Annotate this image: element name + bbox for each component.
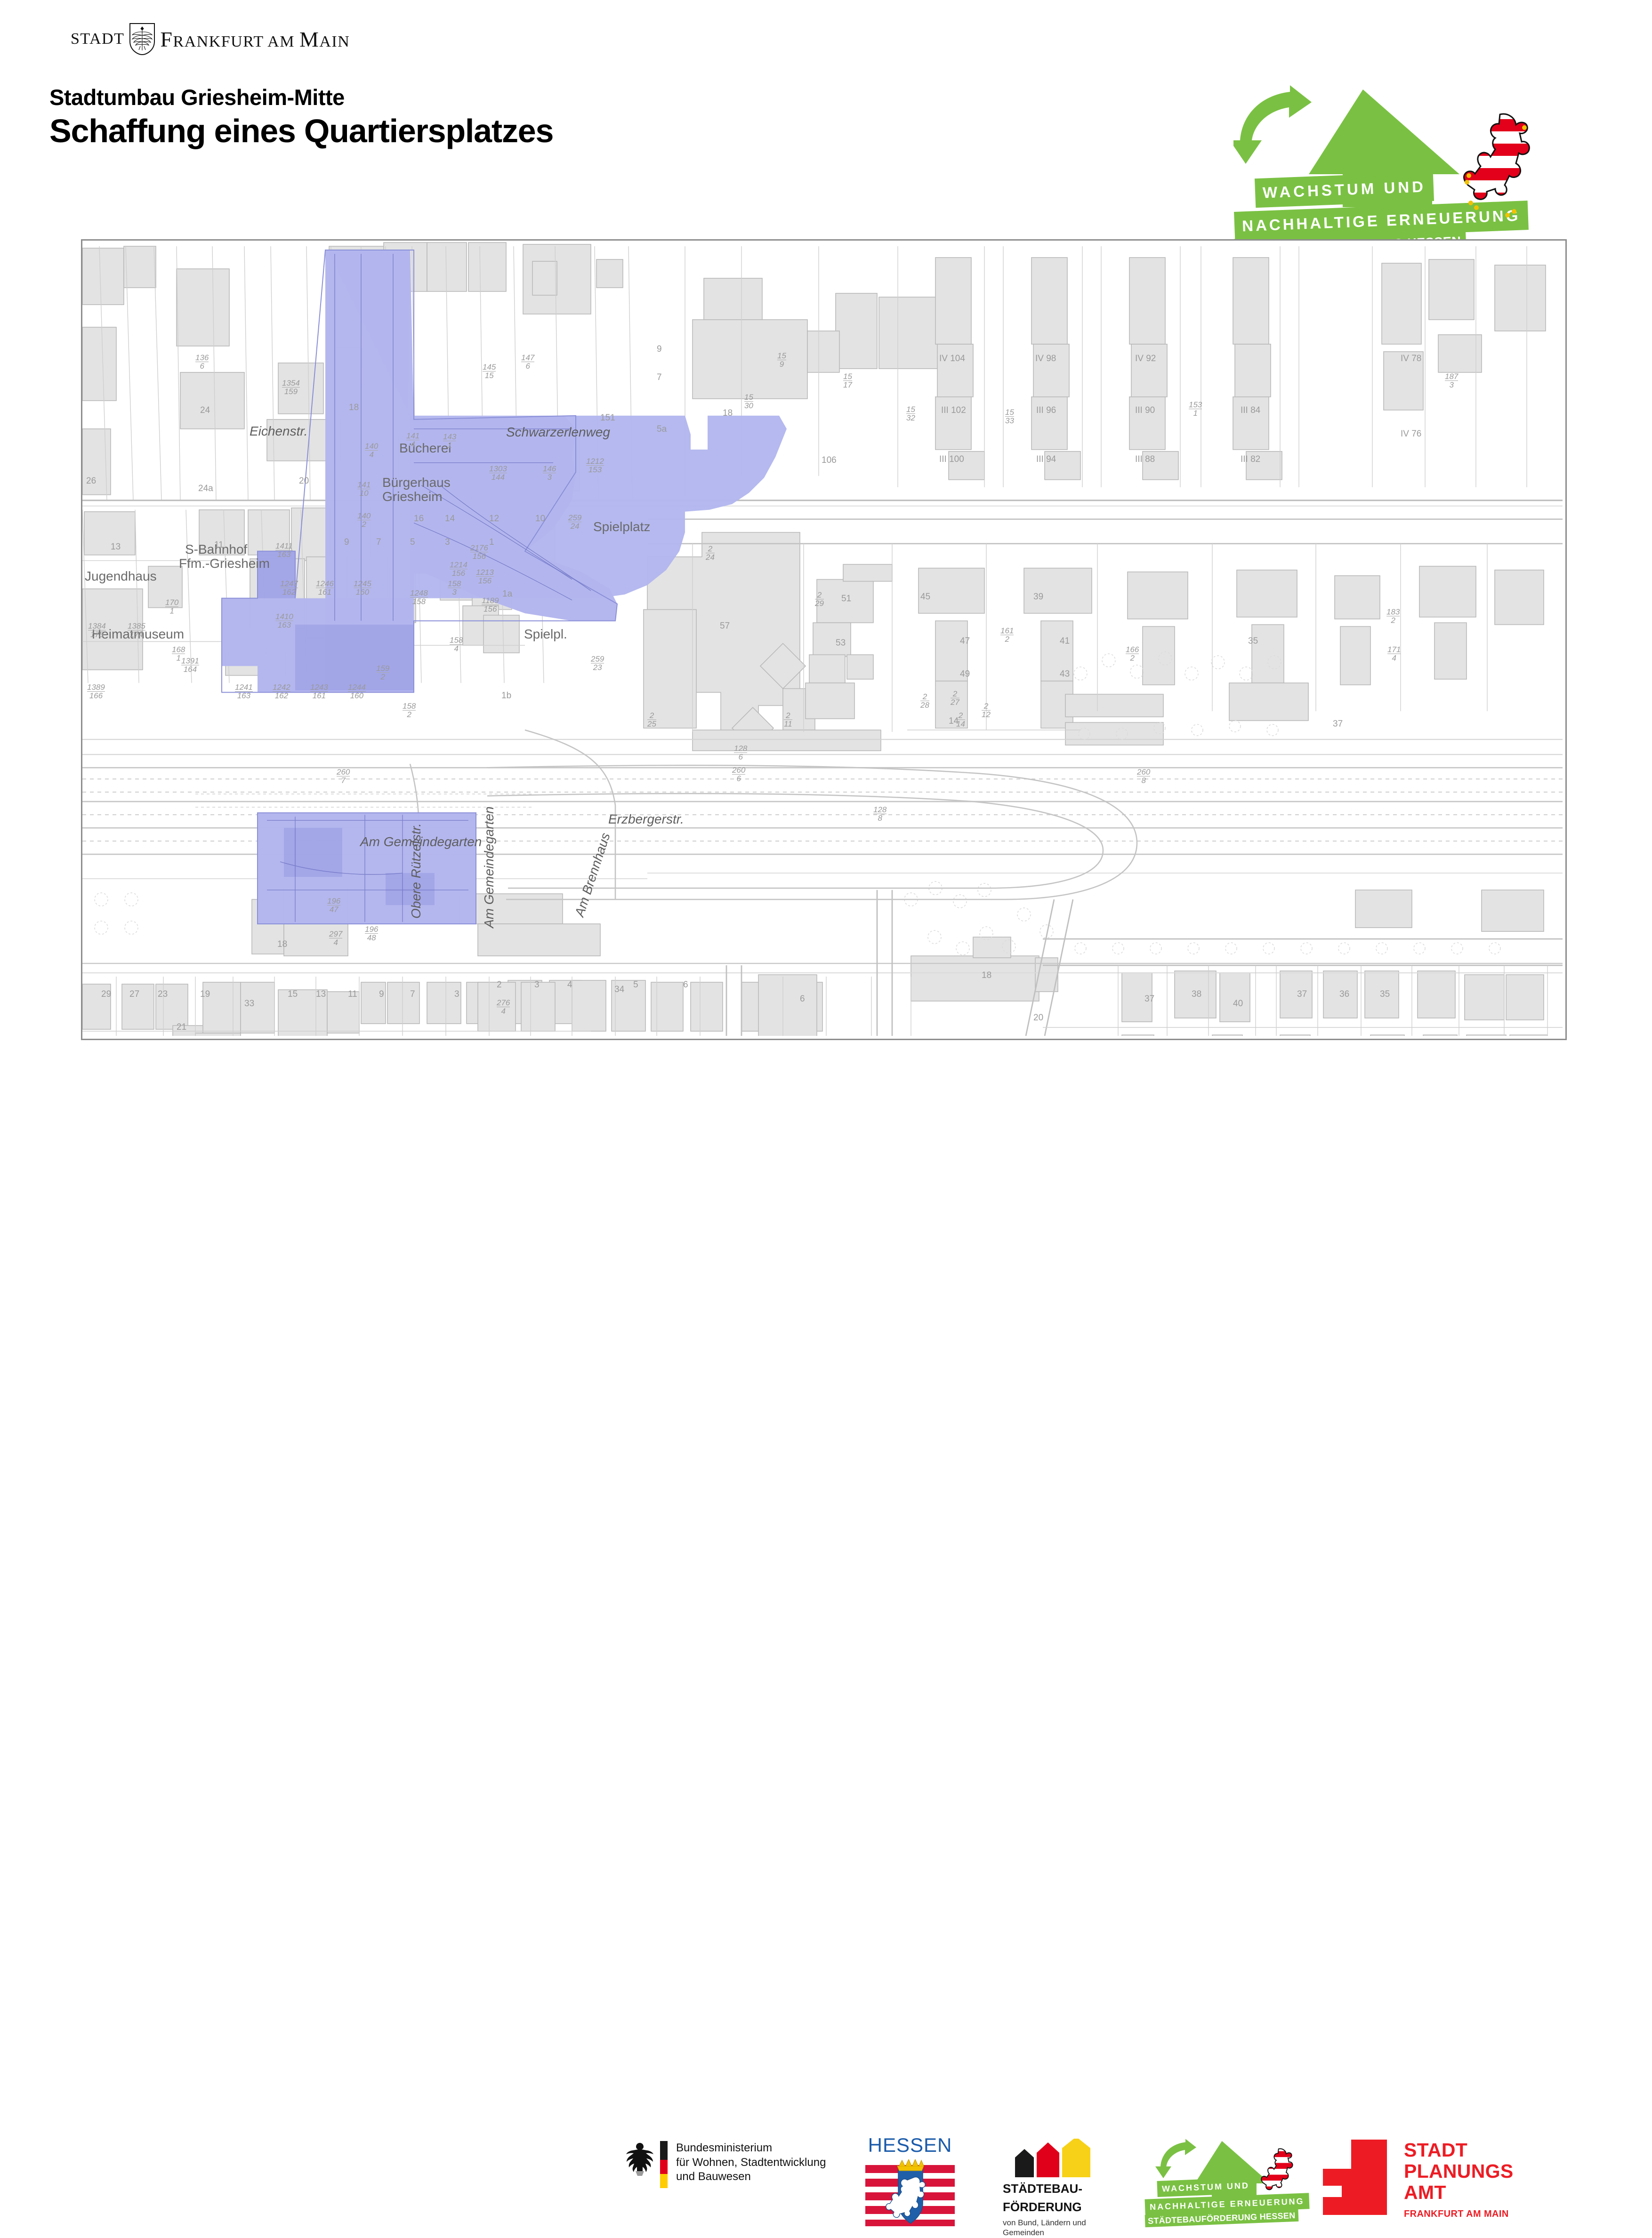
crest-text-stadt: STADT bbox=[71, 30, 124, 48]
spa-line-3: AMT bbox=[1404, 2182, 1513, 2203]
bmwsb-line-3: und Bauwesen bbox=[676, 2170, 826, 2184]
hessen-state-logo: HESSEN bbox=[865, 2134, 955, 2226]
federal-eagle-icon bbox=[625, 2141, 654, 2178]
staedtebau-sub-2: Gemeinden bbox=[1003, 2228, 1111, 2238]
bmwsb-logo: Bundesministerium für Wohnen, Stadtentwi… bbox=[625, 2141, 826, 2188]
map-vector-layer bbox=[82, 241, 1563, 1036]
german-flag-bar-icon bbox=[660, 2141, 668, 2188]
title-block: Stadtumbau Griesheim-Mitte Schaffung ein… bbox=[49, 86, 553, 150]
page-title: Schaffung eines Quartiersplatzes bbox=[49, 113, 553, 149]
hessen-flag-icon bbox=[865, 2159, 955, 2226]
hessen-wordmark: HESSEN bbox=[865, 2134, 955, 2157]
bmwsb-line-1: Bundesministerium bbox=[676, 2141, 826, 2156]
wachstum-logo-small: WACHSTUM UND NACHHALTIGE ERNEUERUNG STÄD… bbox=[1144, 2139, 1332, 2219]
project-subtitle: Stadtumbau Griesheim-Mitte bbox=[49, 86, 553, 109]
staedtebau-line-2: FÖRDERUNG bbox=[1003, 2200, 1111, 2214]
hessen-lion-icon bbox=[1455, 111, 1530, 228]
stadtplanungsamt-logo: STADT PLANUNGS AMT FRANKFURT AM MAIN bbox=[1323, 2140, 1513, 2220]
stadtplanungsamt-mark-icon bbox=[1323, 2140, 1387, 2215]
spa-line-1: STADT bbox=[1404, 2140, 1513, 2161]
spa-sub: FRANKFURT AM MAIN bbox=[1404, 2209, 1513, 2220]
three-houses-icon bbox=[1003, 2140, 1111, 2177]
cadastral-map[interactable]: Eichenstr.SchwarzerlenwegErzbergerstr.Am… bbox=[81, 239, 1567, 1040]
map-canvas bbox=[82, 241, 1565, 1039]
staedtebau-sub-1: von Bund, Ländern und bbox=[1003, 2218, 1111, 2228]
stadtplanungsamt-text: STADT PLANUNGS AMT FRANKFURT AM MAIN bbox=[1404, 2140, 1513, 2220]
staedtebau-line-1: STÄDTEBAU- bbox=[1003, 2182, 1111, 2196]
staedtebaufoerderung-logo: STÄDTEBAU- FÖRDERUNG von Bund, Ländern u… bbox=[1003, 2140, 1111, 2238]
spa-line-2: PLANUNGS bbox=[1404, 2161, 1513, 2182]
footer-logo-bar: Bundesministerium für Wohnen, Stadtentwi… bbox=[0, 1065, 1652, 1159]
bmwsb-line-2: für Wohnen, Stadtentwicklung bbox=[676, 2156, 826, 2170]
frankfurt-eagle-icon bbox=[129, 23, 155, 56]
crest-text-frankfurt: FRANKFURT AM MAIN bbox=[160, 27, 350, 52]
city-crest-lockup: STADT FRANKFURT AM MAIN bbox=[71, 23, 350, 56]
bmwsb-text: Bundesministerium für Wohnen, Stadtentwi… bbox=[676, 2141, 826, 2184]
